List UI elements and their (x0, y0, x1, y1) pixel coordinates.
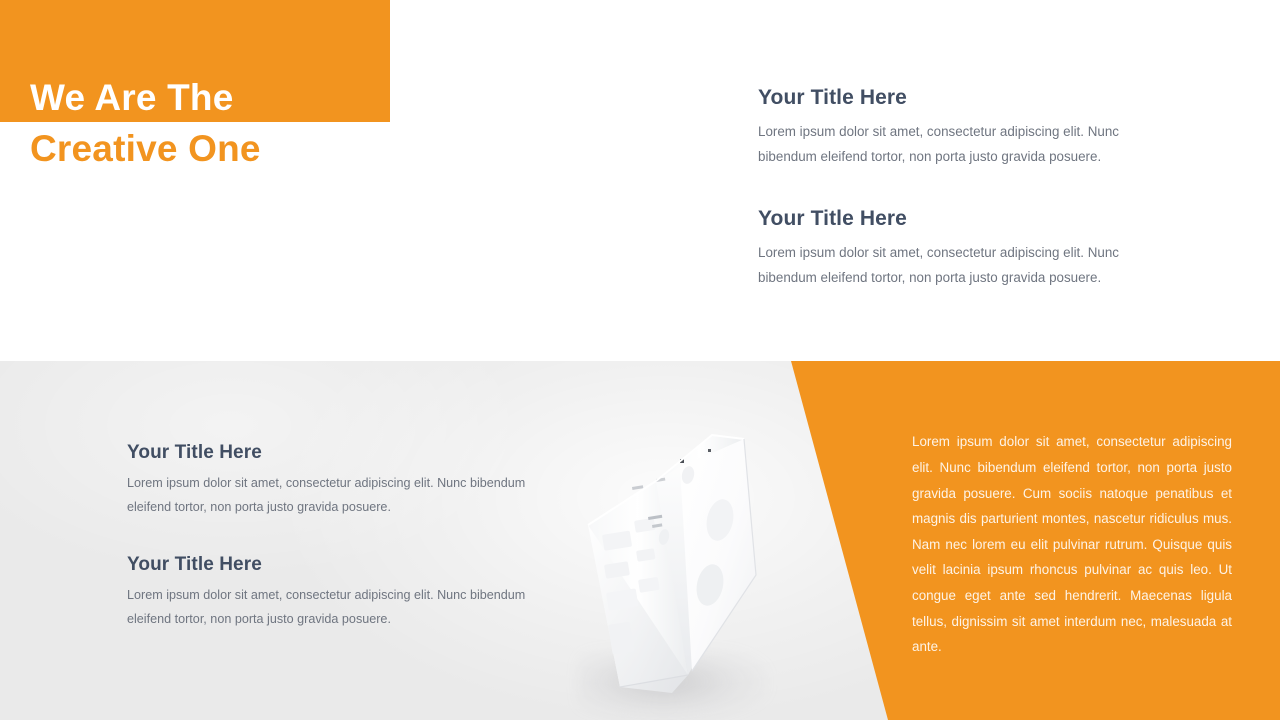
slide-title: We Are The Creative One (30, 72, 550, 174)
top-right-content-column: Your Title Here Lorem ipsum dolor sit am… (758, 86, 1168, 290)
bottom-left-content-column: Your Title Here Lorem ipsum dolor sit am… (127, 442, 537, 631)
slide-title-line-2: Creative One (30, 123, 550, 174)
block-heading: Your Title Here (758, 86, 1168, 110)
text-block: Your Title Here Lorem ipsum dolor sit am… (127, 554, 537, 631)
text-block: Your Title Here Lorem ipsum dolor sit am… (127, 442, 537, 519)
white-device-mockup-image (560, 425, 790, 715)
block-body: Lorem ipsum dolor sit amet, consectetur … (758, 240, 1168, 290)
block-heading: Your Title Here (127, 554, 537, 576)
slide-title-line-1: We Are The (30, 72, 550, 123)
block-body: Lorem ipsum dolor sit amet, consectetur … (127, 471, 537, 519)
text-block: Your Title Here Lorem ipsum dolor sit am… (758, 86, 1168, 169)
block-heading: Your Title Here (127, 442, 537, 464)
orange-panel-paragraph: Lorem ipsum dolor sit amet, consectetur … (912, 429, 1232, 659)
presentation-slide: We Are The Creative One Your Title Here … (0, 0, 1280, 720)
block-heading: Your Title Here (758, 207, 1168, 231)
text-block: Your Title Here Lorem ipsum dolor sit am… (758, 207, 1168, 290)
block-body: Lorem ipsum dolor sit amet, consectetur … (127, 583, 537, 631)
block-body: Lorem ipsum dolor sit amet, consectetur … (758, 119, 1168, 169)
